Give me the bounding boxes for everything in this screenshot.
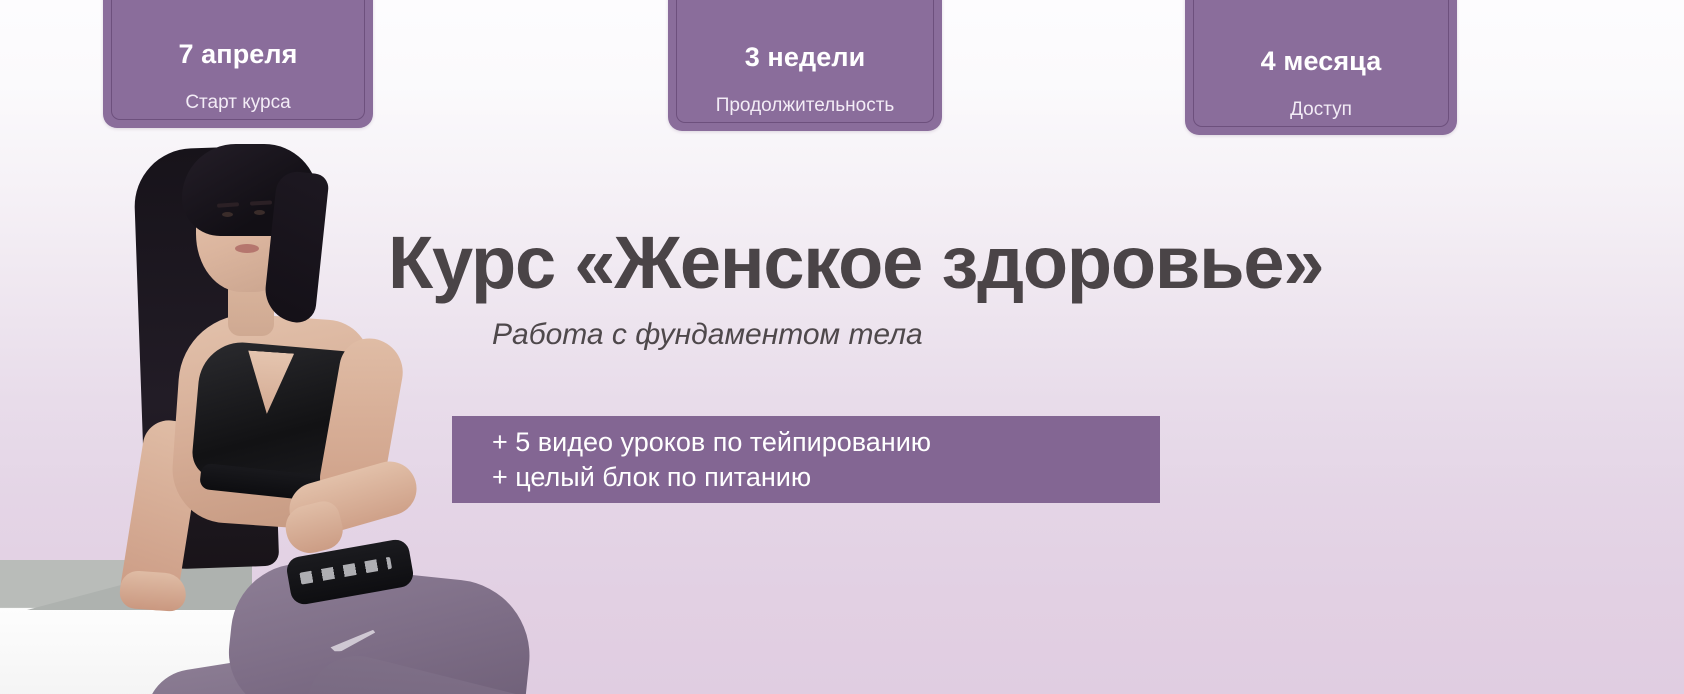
card-label: Старт курса bbox=[185, 93, 290, 112]
card-label: Доступ bbox=[1290, 100, 1352, 119]
model-lips bbox=[235, 244, 259, 253]
hero-banner: Курс «Женское здоровье» Работа с фундаме… bbox=[0, 0, 1684, 694]
info-card-duration[interactable]: 3 недели Продолжительность bbox=[668, 0, 942, 131]
card-label: Продолжительность bbox=[716, 96, 895, 115]
info-card-start-date[interactable]: 7 апреля Старт курса bbox=[103, 0, 373, 128]
model-support-hand bbox=[119, 570, 187, 613]
info-cards: 7 апреля Старт курса 3 недели Продолжите… bbox=[0, 0, 1684, 160]
page-subtitle: Работа с фундаментом тела bbox=[492, 320, 923, 350]
fitness-model-photo bbox=[0, 120, 620, 694]
card-value: 3 недели bbox=[745, 44, 866, 71]
model-eye-left bbox=[222, 212, 233, 217]
model-eye-right bbox=[254, 210, 265, 215]
card-value: 4 месяца bbox=[1261, 48, 1382, 75]
benefit-item-2: + целый блок по питанию bbox=[492, 462, 1160, 492]
info-card-access[interactable]: 4 месяца Доступ bbox=[1185, 0, 1457, 135]
benefits-banner: + 5 видео уроков по тейпированию + целый… bbox=[452, 416, 1160, 503]
page-title: Курс «Женское здоровье» bbox=[388, 226, 1323, 300]
benefit-item-1: + 5 видео уроков по тейпированию bbox=[492, 427, 1160, 457]
card-value: 7 апреля bbox=[178, 41, 297, 68]
